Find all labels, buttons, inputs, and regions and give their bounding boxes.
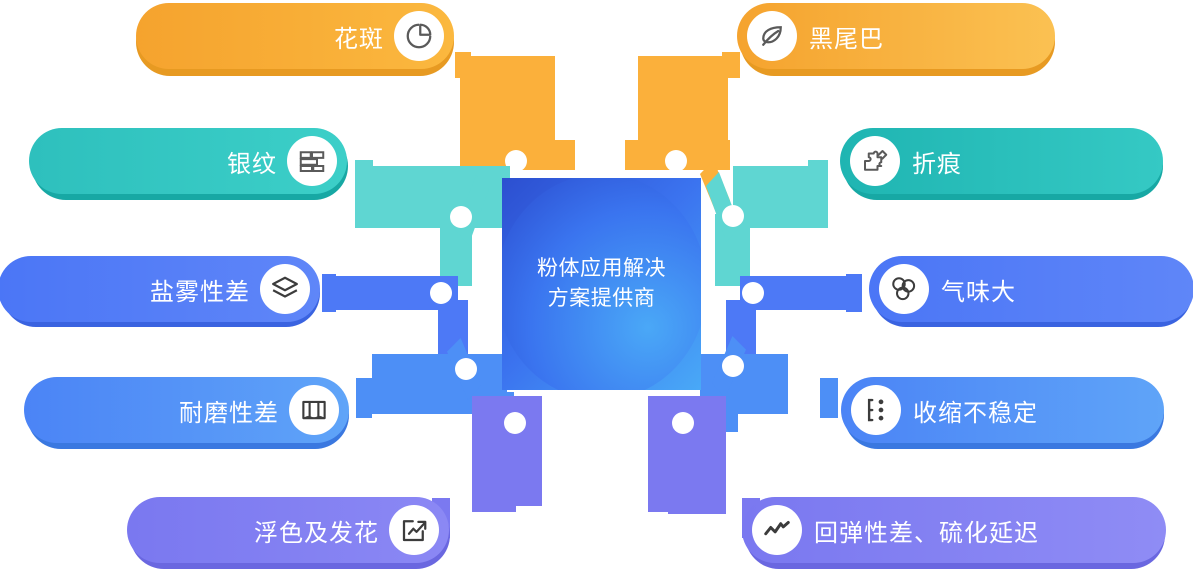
node-label-n5: 盐雾性差: [150, 272, 250, 307]
node-pill-n7[interactable]: 耐磨性差: [24, 377, 349, 443]
accent-block-right-n1: [455, 52, 471, 78]
connector-dot-n3: [450, 206, 472, 228]
connector-bar-n3: [360, 166, 510, 228]
center-hub-line1: 粉体应用解决: [537, 254, 666, 284]
node-label-n2: 黑尾巴: [809, 19, 884, 54]
node-label-n4: 折痕: [912, 144, 962, 179]
node-label-n6: 气味大: [941, 272, 1016, 307]
recycle-icon: [879, 264, 929, 314]
node-pill-n1[interactable]: 花斑: [136, 3, 454, 69]
accent-block-right-n3: [355, 160, 373, 228]
center-hub: 粉体应用解决 方案提供商: [502, 178, 701, 390]
node-pill-n5[interactable]: 盐雾性差: [0, 256, 320, 322]
map-book-icon: [289, 385, 339, 435]
node-pill-n9[interactable]: 浮色及发花: [127, 497, 449, 563]
node-label-n10: 回弹性差、硫化延迟: [814, 513, 1039, 548]
node-label-n3: 银纹: [227, 144, 277, 179]
brick-wall-icon: [287, 136, 337, 186]
node-label-n7: 耐磨性差: [179, 393, 279, 428]
node-label-n1: 花斑: [334, 19, 384, 54]
node-pill-n3[interactable]: 银纹: [29, 128, 347, 194]
accent-block-right-n5: [322, 274, 336, 312]
center-hub-line2: 方案提供商: [548, 284, 656, 314]
connector-dot-n7: [455, 358, 477, 380]
connector-dot-n4: [722, 205, 744, 227]
connector-dot-n10: [672, 412, 694, 434]
connector-dot-n9: [504, 412, 526, 434]
layers-icon: [260, 264, 310, 314]
accent-block-left-n4: [808, 160, 828, 228]
node-pill-n4[interactable]: 折痕: [840, 128, 1163, 194]
pie-chart-icon: [394, 11, 444, 61]
node-pill-n2[interactable]: 黑尾巴: [737, 3, 1055, 69]
puzzle-icon: [850, 136, 900, 186]
connector-foot-n10: [668, 424, 726, 514]
connector-dot-n8: [722, 355, 744, 377]
connector-dot-n5: [430, 282, 452, 304]
accent-block-left-n2: [722, 52, 740, 78]
accent-block-left-n6: [846, 274, 862, 312]
accent-block-right-n7: [356, 378, 372, 418]
trend-up-box-icon: [389, 505, 439, 555]
node-pill-n10[interactable]: 回弹性差、硫化延迟: [742, 497, 1166, 563]
connector-dot-n2: [665, 150, 687, 172]
node-label-n9: 浮色及发花: [254, 513, 379, 548]
node-label-n8: 收缩不稳定: [913, 393, 1038, 428]
diagram-canvas: 花斑 黑尾巴 银纹: [0, 0, 1193, 577]
leaf-icon: [747, 11, 797, 61]
accent-block-left-n8: [820, 378, 838, 418]
node-pill-n6[interactable]: 气味大: [869, 256, 1193, 322]
line-chart-icon: [752, 505, 802, 555]
node-pill-n8[interactable]: 收缩不稳定: [841, 377, 1164, 443]
node-tree-icon: [851, 385, 901, 435]
center-hub-text: 粉体应用解决 方案提供商: [502, 178, 701, 390]
connector-dot-n6: [742, 282, 764, 304]
